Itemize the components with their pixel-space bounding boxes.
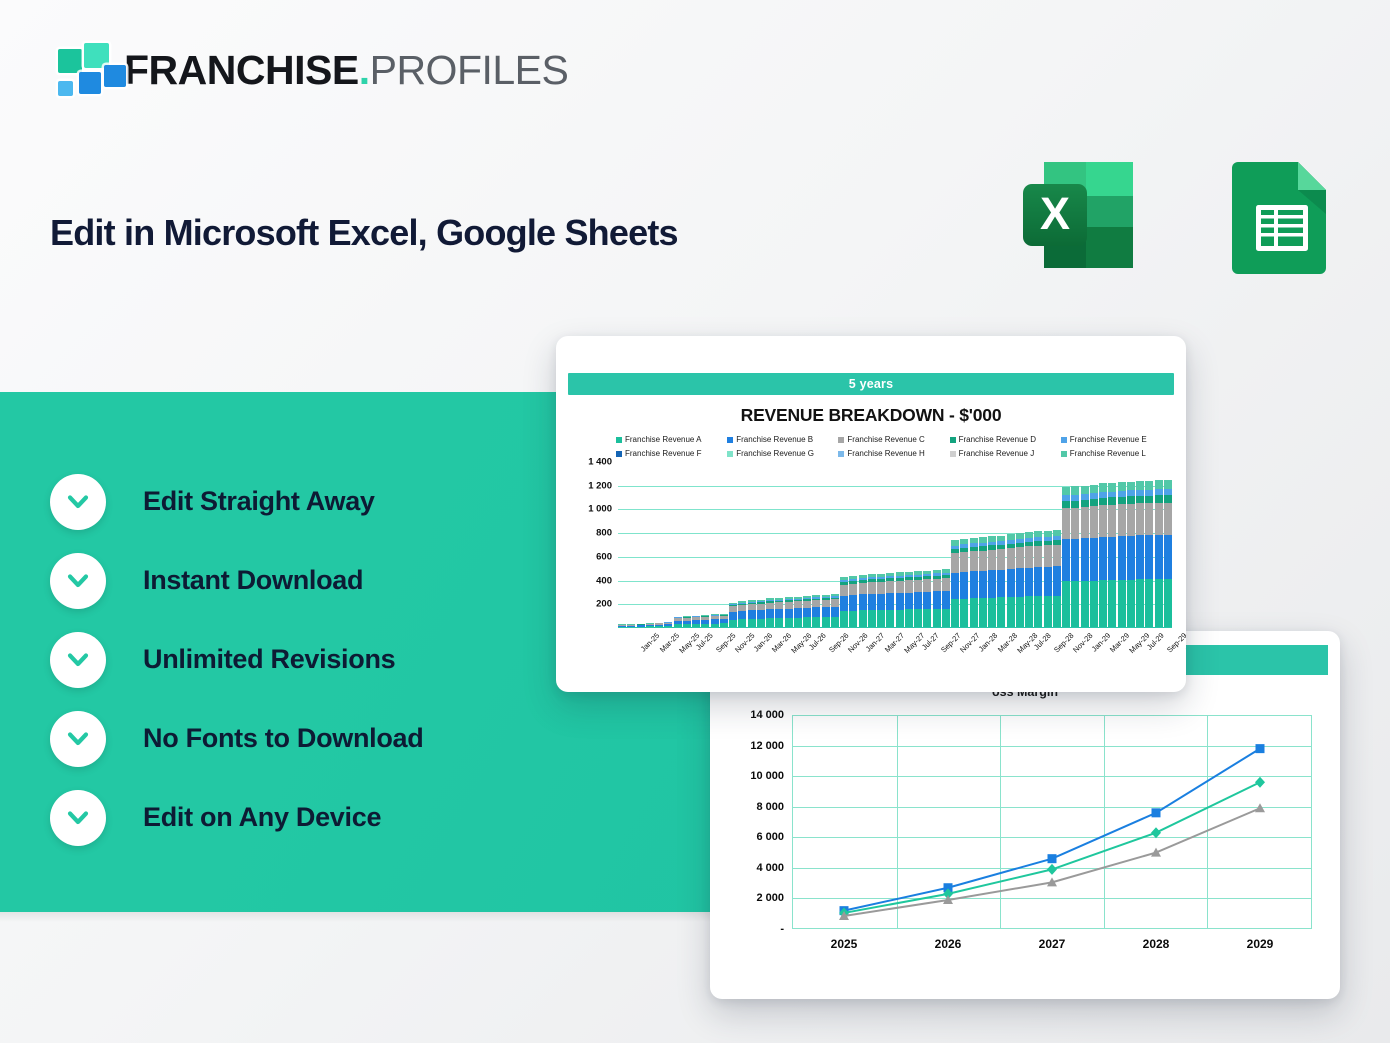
bar-chart-plot: 2004006008001 0001 2001 400: [568, 462, 1176, 628]
y-tick-label: 6 000: [756, 831, 784, 843]
bar-segment: [1155, 495, 1163, 502]
bar-segment: [970, 551, 978, 571]
bar-segment: [933, 579, 941, 592]
bar-segment: [923, 579, 931, 592]
y-tick-label: 8 000: [756, 801, 784, 813]
bar-segment: [794, 608, 802, 617]
bar-segment: [905, 609, 913, 628]
data-point-marker: [1048, 854, 1057, 863]
bar-segment: [960, 599, 968, 628]
bar-segment: [1155, 579, 1163, 628]
bar-segment: [1145, 481, 1153, 490]
x-tick-label: Sep-29: [1165, 631, 1186, 654]
legend-item: Franchise Revenue L: [1061, 449, 1170, 458]
bar-segment: [1090, 506, 1098, 538]
bar-segment: [877, 582, 885, 594]
bar-segment: [1016, 568, 1024, 596]
brand-name-light: PROFILES: [370, 47, 569, 93]
x-tick-label: Mar-29: [1108, 631, 1131, 654]
feature-list: Edit Straight Away Instant Download Unli…: [50, 462, 423, 857]
bar-column: [868, 574, 876, 628]
bar-segment: [923, 592, 931, 609]
bar-segment: [1118, 536, 1126, 580]
feature-label: Edit Straight Away: [143, 486, 375, 517]
legend-swatch: [616, 451, 622, 457]
bar-segment: [886, 593, 894, 610]
bar-segment: [766, 609, 774, 618]
bar-segment: [1025, 596, 1033, 628]
bar-segment: [1136, 496, 1144, 503]
bar-column: [775, 598, 783, 628]
bar-segment: [1164, 495, 1172, 502]
bar-segment: [951, 553, 959, 572]
chevron-down-circle-icon: [50, 474, 106, 530]
legend-item: Franchise Revenue H: [838, 449, 947, 458]
bar-segment: [933, 591, 941, 608]
legend-label: Franchise Revenue E: [1070, 435, 1147, 444]
bar-segment: [1090, 485, 1098, 494]
bar-segment: [970, 598, 978, 628]
feature-label: No Fonts to Download: [143, 723, 423, 754]
data-point-marker: [1255, 777, 1265, 788]
bar-segment: [859, 594, 867, 610]
bar-segment: [1081, 507, 1089, 538]
bar-segment: [979, 551, 987, 571]
line-chart-x-axis: 20252026202720282029: [792, 937, 1312, 951]
squares-mosaic-icon: [46, 43, 108, 98]
legend-item: Franchise Revenue G: [727, 449, 836, 458]
bar-segment: [1025, 546, 1033, 567]
x-tick-label: 2026: [896, 937, 1000, 951]
bar-segment: [849, 584, 857, 595]
bar-segment: [803, 601, 811, 608]
y-tick-label: 14 000: [750, 709, 784, 721]
legend-item: Franchise Revenue A: [616, 435, 725, 444]
x-tick-label: 2025: [792, 937, 896, 951]
bar-chart-x-axis: Jan-25Mar-25May-25Jul-25Sep-25Nov-25Jan-…: [618, 631, 1176, 683]
bar-segment: [1081, 581, 1089, 628]
x-tick-label: Jan-26: [751, 631, 774, 654]
legend-label: Franchise Revenue G: [736, 449, 814, 458]
legend-item: Franchise Revenue E: [1061, 435, 1170, 444]
legend-item: Franchise Revenue C: [838, 435, 947, 444]
bar-segment: [1081, 538, 1089, 581]
bar-column: [1044, 531, 1052, 628]
bar-segment: [775, 609, 783, 618]
x-tick-label: Mar-27: [883, 631, 906, 654]
app-icons-group: X: [1018, 153, 1344, 277]
bar-column: [1127, 482, 1135, 628]
legend-label: Franchise Revenue F: [625, 449, 701, 458]
bar-segment: [859, 610, 867, 628]
bar-segment: [812, 607, 820, 617]
bar-column: [951, 540, 959, 628]
feature-label: Unlimited Revisions: [143, 644, 395, 675]
bar-column: [1099, 483, 1107, 628]
chevron-down-circle-icon: [50, 632, 106, 688]
bar-segment: [1007, 548, 1015, 569]
bar-segment: [840, 611, 848, 628]
bar-segment: [1164, 579, 1172, 628]
bar-segment: [960, 552, 968, 572]
bar-segment: [1118, 497, 1126, 504]
y-tick-label: 10 000: [750, 770, 784, 782]
legend-item: Franchise Revenue J: [950, 449, 1059, 458]
bar-segment: [886, 581, 894, 593]
list-item[interactable]: No Fonts to Download: [50, 699, 423, 778]
x-tick-label: Nov-26: [846, 631, 869, 654]
bar-segment: [859, 583, 867, 595]
bar-segment: [1007, 569, 1015, 597]
bar-column: [1145, 481, 1153, 628]
bar-segment: [1062, 487, 1070, 495]
bar-chart-card[interactable]: 5 years REVENUE BREAKDOWN - $'000 Franch…: [556, 336, 1186, 692]
bar-segment: [840, 596, 848, 611]
bar-column: [1164, 480, 1172, 628]
legend-label: Franchise Revenue L: [1070, 449, 1146, 458]
bar-segment: [877, 594, 885, 610]
chevron-down-circle-icon: [50, 790, 106, 846]
bar-column: [979, 537, 987, 628]
bar-column: [803, 596, 811, 628]
bar-segment: [1053, 566, 1061, 595]
bar-segment: [1145, 503, 1153, 535]
bar-segment: [1081, 500, 1089, 507]
bar-segment: [748, 610, 756, 618]
x-tick-label: Sep-27: [940, 631, 963, 654]
bar-segment: [1145, 535, 1153, 579]
bar-segment: [1099, 580, 1107, 628]
legend-swatch: [1061, 451, 1067, 457]
bar-segment: [1108, 537, 1116, 581]
bar-segment: [831, 599, 839, 606]
bar-segment: [1053, 596, 1061, 628]
y-tick-label: 4 000: [756, 862, 784, 874]
bar-segment: [997, 570, 1005, 598]
bar-segment: [1071, 486, 1079, 495]
bar-segment: [905, 580, 913, 592]
data-point-marker: [1256, 744, 1265, 753]
bar-segment: [757, 610, 765, 619]
bar-segment: [1044, 545, 1052, 566]
bar-column: [849, 576, 857, 628]
bar-segment: [997, 549, 1005, 569]
bar-column: [1062, 487, 1070, 628]
list-item[interactable]: Edit on Any Device: [50, 778, 423, 857]
bar-segment: [1155, 535, 1163, 579]
x-tick-label: Nov-25: [733, 631, 756, 654]
bar-column: [822, 595, 830, 628]
bar-segment: [1164, 535, 1172, 579]
brand-wordmark: FRANCHISE.PROFILES: [124, 47, 568, 94]
legend-swatch: [838, 451, 844, 457]
bar-segment: [1099, 483, 1107, 492]
line-chart-y-axis: -2 0004 0006 0008 00010 00012 00014 000: [726, 715, 784, 929]
bar-segment: [1118, 504, 1126, 536]
bar-column: [785, 597, 793, 628]
microsoft-excel-icon[interactable]: X: [1018, 153, 1142, 277]
bar-segment: [1136, 503, 1144, 535]
brand-name-dot: .: [359, 47, 370, 93]
legend-swatch: [1061, 437, 1067, 443]
bar-segment: [822, 607, 830, 617]
legend-label: Franchise Revenue D: [959, 435, 1036, 444]
bar-segment: [1090, 538, 1098, 581]
bar-segment: [1127, 496, 1135, 503]
bar-segment: [979, 571, 987, 598]
x-tick-label: Jan-28: [977, 631, 1000, 654]
bar-column: [1090, 485, 1098, 628]
page-title: Edit in Microsoft Excel, Google Sheets: [50, 212, 678, 254]
bar-segment: [933, 609, 941, 628]
bar-segment: [803, 608, 811, 618]
bar-segment: [1090, 499, 1098, 506]
y-tick-label: 1 400: [588, 457, 612, 468]
bar-column: [905, 572, 913, 628]
bar-column: [1025, 532, 1033, 628]
x-tick-label: 2027: [1000, 937, 1104, 951]
line-chart-series: [792, 715, 1312, 929]
bar-column: [923, 571, 931, 628]
bar-segment: [1127, 536, 1135, 580]
legend-item: Franchise Revenue B: [727, 435, 836, 444]
bar-column: [1118, 482, 1126, 628]
bar-segment: [868, 594, 876, 610]
bar-segment: [822, 600, 830, 607]
y-tick-label: -: [780, 923, 784, 935]
bar-chart-bars: [618, 462, 1172, 628]
bar-segment: [849, 611, 857, 628]
bar-column: [997, 536, 1005, 628]
bar-column: [942, 569, 950, 628]
bar-segment: [868, 610, 876, 628]
bar-segment: [1007, 597, 1015, 628]
bar-segment: [997, 597, 1005, 628]
bar-segment: [840, 585, 848, 596]
bar-segment: [1016, 547, 1024, 568]
bar-segment: [1155, 480, 1163, 489]
data-point-marker: [1152, 808, 1161, 817]
legend-label: Franchise Revenue A: [625, 435, 702, 444]
bar-chart-y-axis: 2004006008001 0001 2001 400: [568, 462, 612, 628]
bar-column: [988, 536, 996, 628]
x-tick-label: Sep-26: [827, 631, 850, 654]
legend-swatch: [727, 437, 733, 443]
bar-column: [766, 598, 774, 628]
data-point-marker: [1047, 864, 1057, 875]
x-tick-label: Mar-28: [996, 631, 1019, 654]
bar-column: [1136, 481, 1144, 628]
bar-column: [1053, 530, 1061, 628]
bar-segment: [1081, 486, 1089, 495]
legend-swatch: [838, 437, 844, 443]
bar-segment: [905, 593, 913, 610]
bar-segment: [785, 609, 793, 618]
x-tick-label: Mar-25: [658, 631, 681, 654]
brand-name-bold: FRANCHISE: [124, 47, 359, 93]
bar-column: [1007, 534, 1015, 628]
bar-segment: [1071, 581, 1079, 628]
bar-segment: [1071, 539, 1079, 582]
bar-segment: [951, 599, 959, 628]
bar-segment: [868, 582, 876, 594]
chevron-down-circle-icon: [50, 553, 106, 609]
bar-segment: [1099, 537, 1107, 580]
svg-text:X: X: [1040, 188, 1070, 239]
bar-segment: [1108, 497, 1116, 504]
bar-segment: [1164, 503, 1172, 535]
bar-column: [757, 600, 765, 628]
bar-segment: [988, 550, 996, 570]
bar-segment: [1062, 501, 1070, 508]
bar-column: [877, 574, 885, 628]
x-tick-label: Sep-25: [714, 631, 737, 654]
y-tick-label: 200: [596, 599, 612, 610]
data-point-marker: [1151, 827, 1161, 838]
y-tick-label: 1 200: [588, 480, 612, 491]
x-tick-label: Sep-28: [1052, 631, 1075, 654]
bar-column: [896, 572, 904, 628]
bar-column: [729, 603, 737, 628]
bar-chart-legend: Franchise Revenue AFranchise Revenue BFr…: [616, 435, 1170, 458]
bar-segment: [849, 595, 857, 611]
bar-column: [914, 571, 922, 628]
bar-segment: [886, 610, 894, 628]
legend-label: Franchise Revenue B: [736, 435, 813, 444]
line-chart-plot: -2 0004 0006 0008 00010 00012 00014 000 …: [726, 715, 1312, 963]
bar-segment: [1108, 580, 1116, 628]
bar-segment: [1053, 545, 1061, 567]
x-tick-label: 2028: [1104, 937, 1208, 951]
bar-segment: [1071, 501, 1079, 508]
bar-segment: [1127, 580, 1135, 628]
bar-column: [859, 575, 867, 628]
bar-segment: [812, 600, 820, 607]
bar-segment: [960, 572, 968, 599]
feature-label: Instant Download: [143, 565, 363, 596]
bar-column: [794, 597, 802, 628]
list-item[interactable]: Instant Download: [50, 541, 423, 620]
bar-column: [1108, 483, 1116, 628]
bar-segment: [785, 602, 793, 609]
x-tick-label: Jan-29: [1089, 631, 1112, 654]
bar-segment: [1099, 505, 1107, 537]
bar-segment: [1155, 503, 1163, 535]
bar-segment: [1062, 581, 1070, 628]
bar-column: [1034, 531, 1042, 628]
bar-segment: [914, 580, 922, 593]
bar-segment: [738, 611, 746, 619]
bar-chart-grid-area: [618, 462, 1172, 628]
bar-segment: [1062, 508, 1070, 539]
bar-segment: [988, 598, 996, 628]
y-tick-label: 12 000: [750, 740, 784, 752]
bar-segment: [1118, 580, 1126, 628]
bar-column: [831, 594, 839, 628]
bar-segment: [729, 612, 737, 620]
list-item[interactable]: Edit Straight Away: [50, 462, 423, 541]
chevron-down-circle-icon: [50, 711, 106, 767]
bar-segment: [1127, 504, 1135, 536]
bar-column: [1081, 486, 1089, 628]
y-tick-label: 600: [596, 551, 612, 562]
bar-column: [970, 538, 978, 628]
list-item[interactable]: Unlimited Revisions: [50, 620, 423, 699]
legend-item: Franchise Revenue F: [616, 449, 725, 458]
bar-segment: [914, 609, 922, 628]
bar-segment: [1034, 596, 1042, 628]
bar-column: [1071, 486, 1079, 628]
legend-swatch: [950, 437, 956, 443]
bar-segment: [1034, 567, 1042, 596]
y-tick-label: 1 000: [588, 504, 612, 515]
google-sheets-icon[interactable]: [1220, 153, 1344, 277]
bar-segment: [1108, 483, 1116, 492]
bar-chart-title: REVENUE BREAKDOWN - $'000: [556, 405, 1186, 426]
bar-segment: [942, 609, 950, 628]
legend-item: Franchise Revenue D: [950, 435, 1059, 444]
bar-segment: [951, 573, 959, 599]
bar-segment: [1136, 579, 1144, 628]
bar-segment: [942, 578, 950, 591]
bar-chart-header-badge: 5 years: [568, 373, 1174, 395]
bar-segment: [831, 607, 839, 617]
bar-segment: [914, 592, 922, 609]
x-tick-label: Nov-27: [958, 631, 981, 654]
data-point-marker: [1255, 803, 1265, 812]
bar-segment: [1127, 482, 1135, 491]
x-tick-label: 2029: [1208, 937, 1312, 951]
bar-segment: [1025, 568, 1033, 597]
legend-swatch: [616, 437, 622, 443]
bar-segment: [1145, 496, 1153, 503]
bar-column: [960, 539, 968, 628]
bar-segment: [1034, 546, 1042, 567]
bar-segment: [1016, 597, 1024, 628]
bar-segment: [1071, 508, 1079, 539]
bar-segment: [896, 610, 904, 628]
bar-segment: [1108, 505, 1116, 537]
bar-column: [1016, 533, 1024, 628]
bar-column: [812, 595, 820, 628]
bar-segment: [1136, 535, 1144, 579]
legend-swatch: [950, 451, 956, 457]
bar-segment: [1145, 579, 1153, 628]
x-tick-label: Mar-26: [770, 631, 793, 654]
brand-logo[interactable]: FRANCHISE.PROFILES: [46, 43, 568, 98]
bar-segment: [1062, 539, 1070, 581]
bar-segment: [988, 570, 996, 598]
bar-column: [840, 577, 848, 628]
bar-segment: [1044, 567, 1052, 596]
y-tick-label: 2 000: [756, 892, 784, 904]
bar-segment: [1090, 581, 1098, 628]
bar-segment: [794, 601, 802, 608]
bar-segment: [1164, 480, 1172, 489]
bar-segment: [979, 598, 987, 628]
y-tick-label: 800: [596, 528, 612, 539]
bar-column: [748, 600, 756, 628]
bar-segment: [1099, 498, 1107, 505]
bar-column: [933, 570, 941, 628]
bar-segment: [923, 609, 931, 628]
bar-segment: [942, 591, 950, 609]
bar-segment: [1136, 481, 1144, 490]
legend-label: Franchise Revenue H: [847, 449, 924, 458]
bar-segment: [896, 581, 904, 593]
bar-column: [886, 573, 894, 628]
bar-chart-axis-line: [618, 627, 1172, 629]
